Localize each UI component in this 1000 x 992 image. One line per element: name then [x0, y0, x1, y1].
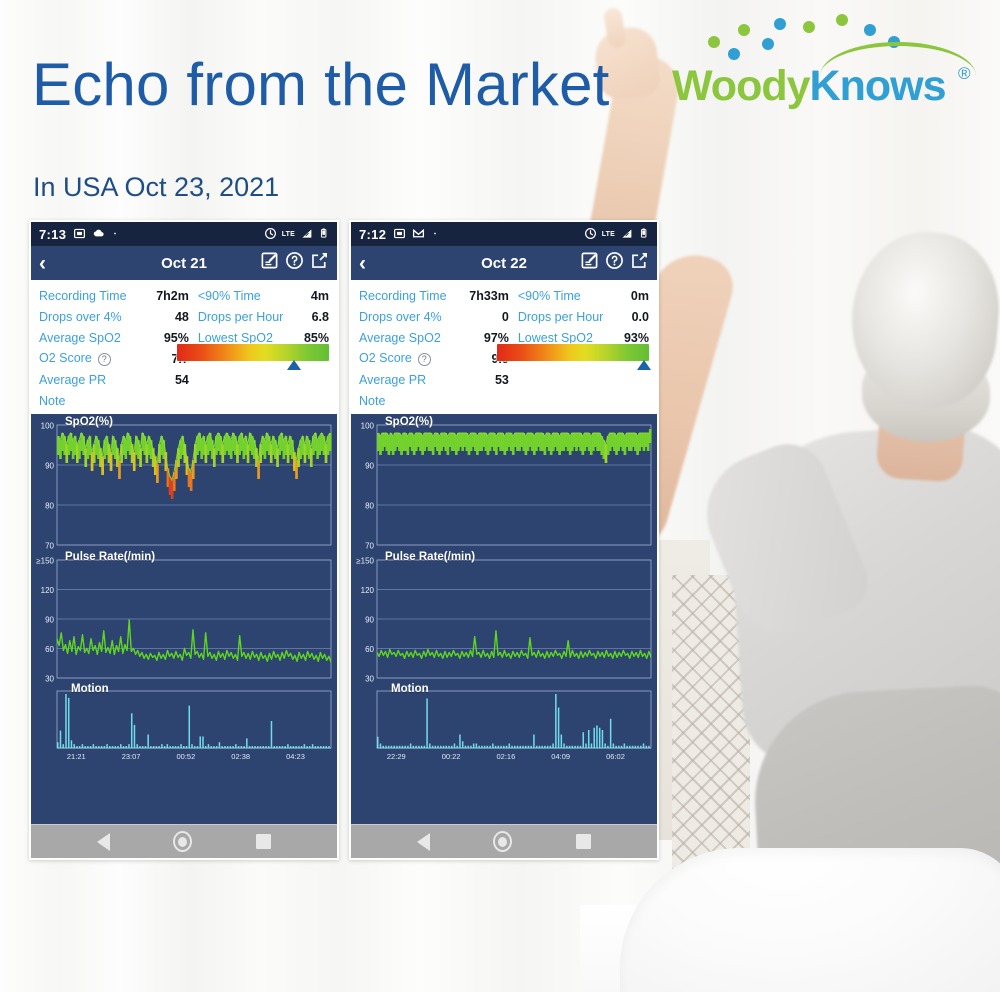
- svg-text:120: 120: [361, 586, 375, 595]
- back-triangle-icon[interactable]: [417, 833, 430, 851]
- logo-woody-text: Woody: [672, 62, 810, 110]
- pulse-rate-chart-title: Pulse Rate(/min): [385, 551, 475, 563]
- svg-text:90: 90: [45, 462, 54, 471]
- stat-label: Note: [39, 394, 140, 408]
- phone-screenshot-left: 7:13 LTE ‹ Oct 21 Recording Time 7h2m <9…: [29, 220, 339, 860]
- stat-label: Note: [359, 394, 460, 408]
- signal-icon: [620, 227, 633, 240]
- motion-chart[interactable]: Motion 22:2900:2202:1604:0906:02: [351, 682, 657, 764]
- stat-label: Average PR: [359, 373, 460, 387]
- pulse-chart-svg: ≥150120906030: [351, 549, 657, 682]
- svg-text:80: 80: [45, 502, 54, 511]
- charts-area: SpO2(%) 100908070 Pulse Rate(/min) ≥1501…: [351, 414, 657, 860]
- mail-icon: [412, 227, 425, 240]
- stat-label: Recording Time: [359, 289, 460, 303]
- stat-row: Recording Time 7h2m <90% Time 4m: [39, 285, 329, 306]
- spo2-chart-title: SpO2(%): [65, 416, 113, 428]
- back-button[interactable]: ‹: [359, 253, 366, 274]
- phone-screenshot-right: 7:12 LTE ‹ Oct 22 Recording Time 7h33m <…: [349, 220, 659, 860]
- stat-label-secondary: <90% Time: [198, 289, 288, 303]
- share-button[interactable]: [630, 251, 649, 275]
- page-title: Echo from the Market: [32, 50, 610, 119]
- svg-text:90: 90: [365, 462, 374, 471]
- dot-icon: [431, 227, 439, 242]
- app-bar: ‹ Oct 21: [31, 246, 337, 280]
- stat-value-secondary: 0.0: [608, 310, 649, 324]
- screenshot-icon: [73, 227, 86, 240]
- recent-square-icon[interactable]: [576, 834, 591, 849]
- motion-chart[interactable]: Motion 21:2123:0700:5202:3804:23: [31, 682, 337, 764]
- status-bar-left-icons: [73, 227, 263, 242]
- status-bar-right-icons: LTE: [264, 226, 329, 242]
- logo-knows-text: Knows: [810, 62, 946, 110]
- stat-label: Average SpO2: [39, 331, 140, 345]
- charts-area: SpO2(%) 100908070 Pulse Rate(/min) ≥1501…: [31, 414, 337, 860]
- o2-score-gauge-bar: [177, 344, 329, 361]
- pulse-rate-chart[interactable]: Pulse Rate(/min) ≥150120906030: [31, 549, 337, 682]
- app-bar-actions: [580, 251, 649, 275]
- stat-value-secondary: 85%: [288, 331, 329, 345]
- svg-text:70: 70: [45, 542, 54, 550]
- help-button[interactable]: [285, 251, 304, 275]
- help-icon: [605, 251, 624, 270]
- spo2-chart-svg: 100908070: [351, 414, 657, 549]
- cloud-icon: [92, 227, 105, 240]
- signal-icon: [620, 227, 633, 242]
- status-bar: 7:13 LTE: [31, 222, 337, 246]
- svg-text:00:52: 00:52: [177, 752, 196, 761]
- summary-stats-panel: Recording Time 7h33m <90% Time 0m Drops …: [351, 280, 657, 414]
- screenshot-icon: [393, 227, 406, 240]
- logo-dot-4: [836, 14, 848, 26]
- share-icon: [310, 251, 329, 270]
- pulse-rate-chart-title: Pulse Rate(/min): [65, 551, 155, 563]
- o2-score-gauge: [177, 344, 329, 374]
- status-bar-time: 7:13: [39, 227, 66, 242]
- stat-label: Recording Time: [39, 289, 140, 303]
- spo2-chart-svg: 100908070: [31, 414, 337, 549]
- stat-value: 7h2m: [140, 289, 189, 303]
- motion-chart-title: Motion: [71, 683, 109, 695]
- cloud-icon: [92, 227, 105, 242]
- status-bar-right-icons: LTE: [584, 226, 649, 242]
- back-button[interactable]: ‹: [39, 253, 46, 274]
- stat-value-secondary: 4m: [288, 289, 329, 303]
- help-icon: [285, 251, 304, 270]
- stat-label-secondary: Lowest SpO2: [198, 331, 288, 345]
- stat-label: Average SpO2: [359, 331, 460, 345]
- app-bar-actions: [260, 251, 329, 275]
- lte-icon: LTE: [282, 231, 295, 238]
- svg-text:30: 30: [365, 675, 374, 683]
- svg-text:90: 90: [365, 616, 374, 625]
- svg-text:80: 80: [365, 502, 374, 511]
- alarm-icon: [264, 227, 277, 242]
- logo-wordmark: WoodyKnows: [672, 62, 945, 111]
- stat-value: 95%: [140, 331, 189, 345]
- app-bar: ‹ Oct 22: [351, 246, 657, 280]
- svg-text:60: 60: [365, 645, 374, 654]
- logo-dot-6: [728, 48, 740, 60]
- svg-text:23:07: 23:07: [122, 752, 141, 761]
- promo-page: Echo from the Market In USA Oct 23, 2021…: [0, 0, 1000, 992]
- stat-row: Drops over 4% 0 Drops per Hour 0.0: [359, 306, 649, 327]
- status-bar-time: 7:12: [359, 227, 386, 242]
- pulse-chart-svg: ≥150120906030: [31, 549, 337, 682]
- lte-icon: LTE: [602, 231, 615, 238]
- page-subtitle: In USA Oct 23, 2021: [33, 172, 279, 203]
- logo-dot-0: [708, 36, 720, 48]
- svg-text:04:23: 04:23: [286, 752, 305, 761]
- stat-value: 48: [140, 310, 189, 324]
- svg-text:00:22: 00:22: [442, 752, 461, 761]
- status-bar-left-icons: [393, 227, 583, 242]
- svg-text:100: 100: [361, 422, 375, 431]
- o2-score-help-icon[interactable]: ?: [418, 353, 431, 366]
- stat-label: Drops over 4%: [39, 310, 140, 324]
- dot-icon: [431, 227, 439, 240]
- stat-value: 97%: [460, 331, 509, 345]
- logo-dot-7: [762, 38, 774, 50]
- screenshot-icon: [393, 227, 406, 242]
- stat-label: O2 Score?: [359, 351, 460, 366]
- note-edit-icon: [580, 251, 599, 270]
- share-icon: [630, 251, 649, 270]
- logo-dot-1: [738, 24, 750, 36]
- svg-text:06:02: 06:02: [606, 752, 625, 761]
- note-edit-button[interactable]: [580, 251, 599, 275]
- brand-logo: WoodyKnows ®: [662, 8, 982, 118]
- signal-icon: [300, 227, 313, 240]
- svg-text:100: 100: [41, 422, 55, 431]
- mail-icon: [412, 227, 425, 242]
- o2-score-gauge-marker: [287, 360, 301, 370]
- svg-text:≥150: ≥150: [356, 557, 374, 566]
- stat-label-secondary: Drops per Hour: [518, 310, 608, 324]
- svg-text:60: 60: [45, 645, 54, 654]
- logo-dot-2: [774, 18, 786, 30]
- alarm-icon: [584, 227, 597, 240]
- recent-square-icon[interactable]: [256, 834, 271, 849]
- screenshot-icon: [73, 227, 86, 242]
- stat-label-secondary: Lowest SpO2: [518, 331, 608, 345]
- android-nav-bar: [31, 824, 337, 858]
- summary-stats-panel: Recording Time 7h2m <90% Time 4m Drops o…: [31, 280, 337, 414]
- stat-value: 54: [140, 373, 189, 387]
- battery-icon: [638, 226, 649, 242]
- share-button[interactable]: [310, 251, 329, 275]
- home-circle-icon[interactable]: [173, 831, 192, 852]
- spo2-chart[interactable]: SpO2(%) 100908070: [351, 414, 657, 549]
- stat-label: Drops over 4%: [359, 310, 460, 324]
- stat-label-secondary: Drops per Hour: [198, 310, 288, 324]
- stat-row: Note: [359, 390, 649, 411]
- stat-value: 0: [460, 310, 509, 324]
- spo2-chart-title: SpO2(%): [385, 416, 433, 428]
- stat-value-secondary: 6.8: [288, 310, 329, 324]
- note-edit-button[interactable]: [260, 251, 279, 275]
- o2-score-gauge-bar: [497, 344, 649, 361]
- stat-label: Average PR: [39, 373, 140, 387]
- stat-row: Note: [39, 390, 329, 411]
- o2-score-help-icon[interactable]: ?: [98, 353, 111, 366]
- note-edit-icon: [260, 251, 279, 270]
- spo2-chart[interactable]: SpO2(%) 100908070: [31, 414, 337, 549]
- stat-label-secondary: <90% Time: [518, 289, 608, 303]
- alarm-icon: [264, 227, 277, 240]
- stat-row: Drops over 4% 48 Drops per Hour 6.8: [39, 306, 329, 327]
- stat-value: 7h33m: [460, 289, 509, 303]
- svg-text:21:21: 21:21: [67, 752, 86, 761]
- dot-icon: [111, 227, 119, 240]
- alarm-icon: [584, 227, 597, 242]
- svg-text:02:38: 02:38: [231, 752, 250, 761]
- dot-icon: [111, 227, 119, 242]
- bed-duvet: [620, 848, 1000, 992]
- logo-dot-5: [864, 24, 876, 36]
- logo-registered-mark: ®: [958, 64, 971, 84]
- svg-text:30: 30: [45, 675, 54, 683]
- motion-chart-title: Motion: [391, 683, 429, 695]
- battery-icon: [318, 226, 329, 242]
- svg-text:120: 120: [41, 586, 55, 595]
- signal-icon: [300, 227, 313, 242]
- stat-value: 53: [460, 373, 509, 387]
- svg-text:70: 70: [365, 542, 374, 550]
- stat-value-secondary: 0m: [608, 289, 649, 303]
- svg-text:90: 90: [45, 616, 54, 625]
- logo-dot-3: [803, 21, 815, 33]
- back-triangle-icon[interactable]: [97, 833, 110, 851]
- stat-value-secondary: 93%: [608, 331, 649, 345]
- pulse-rate-chart[interactable]: Pulse Rate(/min) ≥150120906030: [351, 549, 657, 682]
- battery-icon: [638, 226, 649, 240]
- stat-row: Recording Time 7h33m <90% Time 0m: [359, 285, 649, 306]
- status-bar: 7:12 LTE: [351, 222, 657, 246]
- android-nav-bar: [351, 824, 657, 858]
- svg-text:04:09: 04:09: [551, 752, 570, 761]
- o2-score-gauge-marker: [637, 360, 651, 370]
- o2-score-gauge: [497, 344, 649, 374]
- svg-text:22:29: 22:29: [387, 752, 406, 761]
- battery-icon: [318, 226, 329, 240]
- stat-label: O2 Score?: [39, 351, 140, 366]
- home-circle-icon[interactable]: [493, 831, 512, 852]
- help-button[interactable]: [605, 251, 624, 275]
- svg-text:02:16: 02:16: [497, 752, 516, 761]
- svg-text:≥150: ≥150: [36, 557, 54, 566]
